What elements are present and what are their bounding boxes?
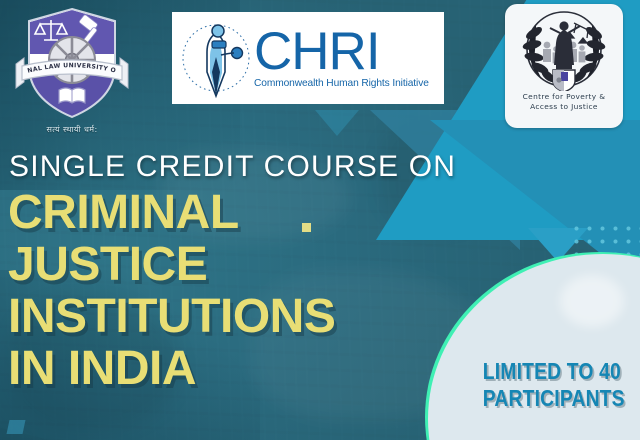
cpaj-caption: Centre for Poverty & Access to Justice xyxy=(523,92,606,112)
course-poster: NATIONAL LAW UNIVERSITY ODISHA सत्यं स्थ… xyxy=(0,0,640,440)
nluo-motto: सत्यं स्थायी धर्म: xyxy=(16,124,128,135)
poster-kicker: SINGLE CREDIT COURSE ON xyxy=(9,150,456,184)
poster-title: CRIMINAL JUSTICE INSTITUTIONS IN INDIA xyxy=(8,190,478,398)
chri-acronym: CHRI xyxy=(254,27,438,77)
circle-glow xyxy=(560,275,624,327)
cpaj-caption-line-2: Access to Justice xyxy=(530,102,598,111)
title-line-2: JUSTICE xyxy=(8,242,478,288)
lady-justice-icon xyxy=(516,9,612,91)
title-line-1: CRIMINAL xyxy=(8,190,478,236)
chri-figure-icon xyxy=(180,17,252,99)
nluo-logo: NATIONAL LAW UNIVERSITY ODISHA xyxy=(14,4,130,122)
nluo-crest-icon: NATIONAL LAW UNIVERSITY ODISHA xyxy=(14,4,130,122)
title-line-4: IN INDIA xyxy=(8,346,478,392)
cpaj-caption-line-1: Centre for Poverty & xyxy=(523,92,606,101)
limited-line-1: LIMITED TO 40 xyxy=(483,358,617,385)
cpaj-logo: Centre for Poverty & Access to Justice xyxy=(505,4,623,128)
chri-logo: CHRI Commonwealth Human Rights Initiativ… xyxy=(172,12,444,104)
shield-crest-icon xyxy=(553,70,575,91)
limited-line-2: PARTICIPANTS xyxy=(483,385,617,412)
title-line-3: INSTITUTIONS xyxy=(8,294,478,340)
decorative-square xyxy=(7,420,26,434)
chri-full-name: Commonwealth Human Rights Initiative xyxy=(254,78,438,89)
limited-seats-badge: LIMITED TO 40 PARTICIPANTS xyxy=(470,358,630,412)
